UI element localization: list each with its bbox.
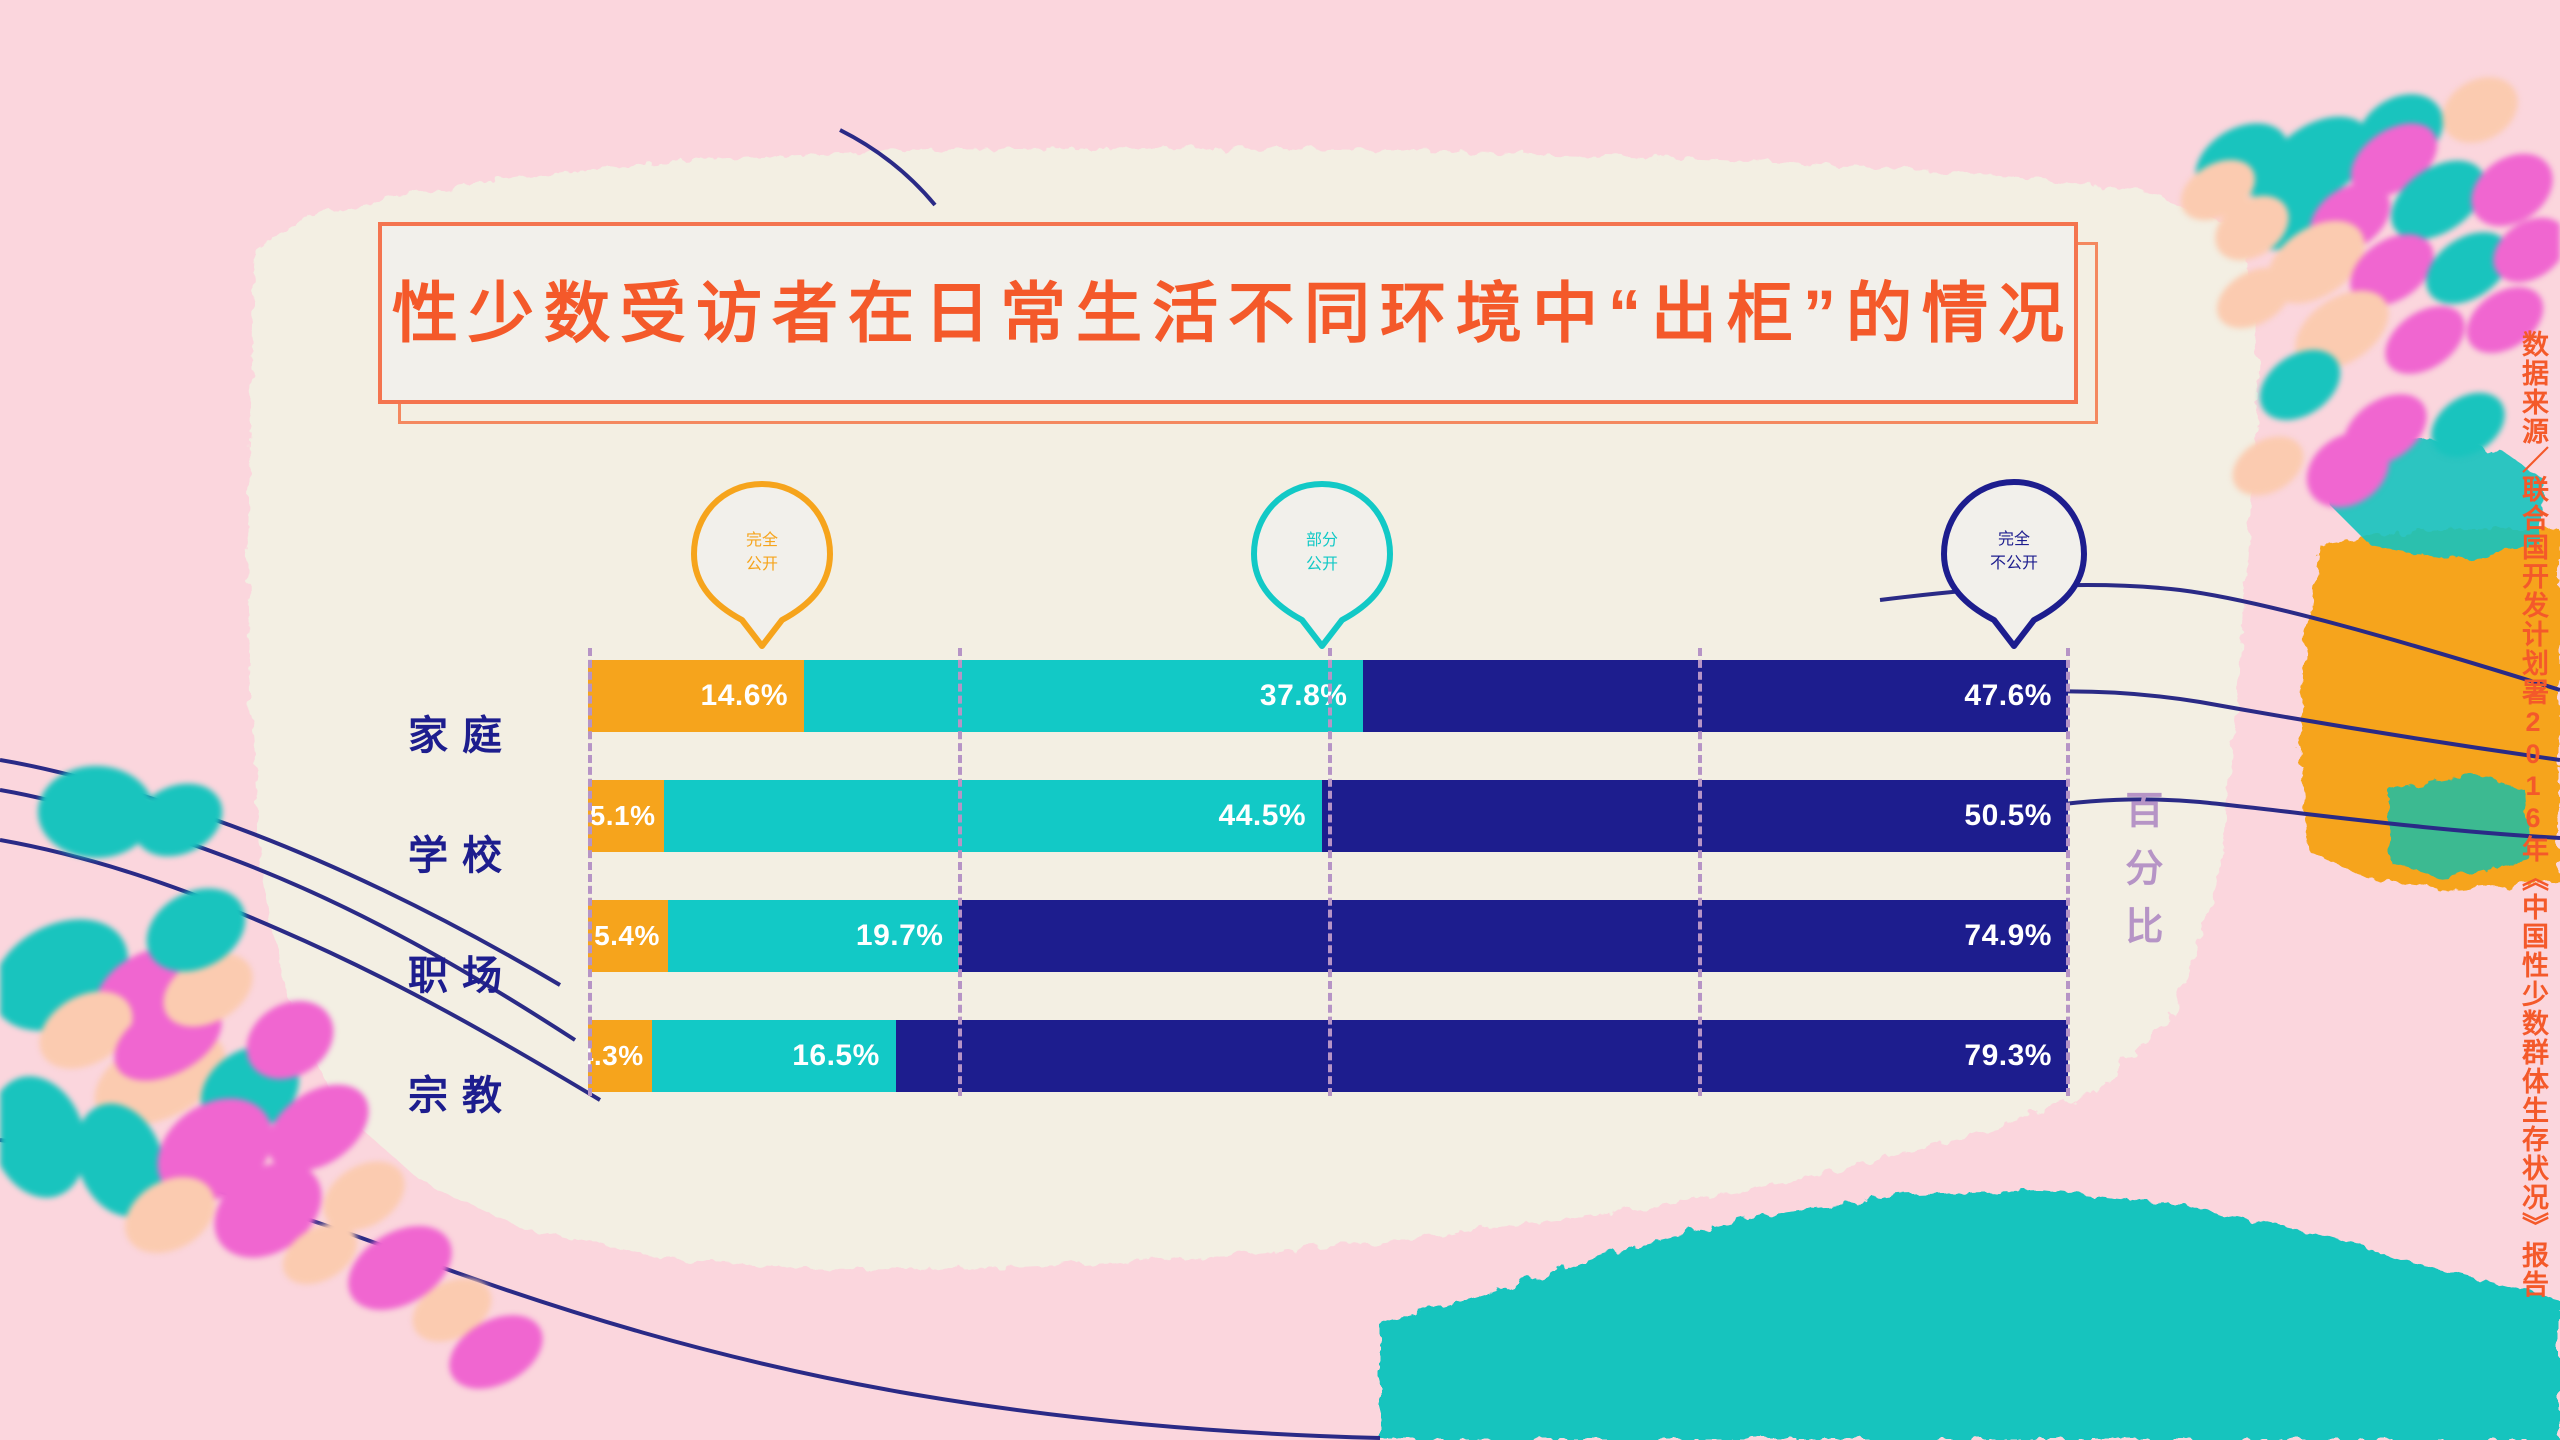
row-label-family: 家庭: [408, 703, 516, 761]
bar-segment-partly-open[interactable]: 37.8%: [804, 660, 1363, 732]
page-title: 性少数受访者在日常生活不同环境中“出柜”的情况: [382, 280, 2074, 346]
legend-label-line2: 公开: [1306, 550, 1338, 574]
source-note: 数据来源／联合国开发计划署2016年《中国性少数群体生存状况》报告: [2504, 330, 2548, 1299]
legend-label-line2: 不公开: [1990, 549, 2038, 573]
infographic-canvas: 性少数受访者在日常生活不同环境中“出柜”的情况 完全 公开 部分 公开 完全 不…: [0, 0, 2560, 1440]
legend-label-line2: 公开: [746, 550, 778, 574]
bar-segment-not-open[interactable]: 50.5%: [1322, 780, 2068, 852]
bar-row-workplace[interactable]: 5.4% 19.7% 74.9%: [588, 900, 2068, 972]
bar-segment-partly-open[interactable]: 19.7%: [668, 900, 960, 972]
bar-segment-not-open[interactable]: 47.6%: [1363, 660, 2068, 732]
bar-value-label: 47.6%: [1964, 679, 2068, 713]
bar-value-label: 16.5%: [792, 1039, 896, 1073]
bar-value-label: 79.3%: [1964, 1039, 2068, 1073]
bar-value-label: 74.9%: [1964, 919, 2068, 953]
bar-value-label: 44.5%: [1219, 799, 1323, 833]
legend-pin-fully-open[interactable]: 完全 公开: [688, 480, 836, 650]
legend-label-line1: 部分: [1306, 526, 1338, 550]
bar-row-religion[interactable]: 4.3% 16.5% 79.3%: [588, 1020, 2068, 1092]
bar-value-label: 50.5%: [1964, 799, 2068, 833]
row-label-religion: 宗教: [408, 1063, 516, 1121]
bar-value-label: 5.4%: [594, 920, 668, 952]
bar-segment-fully-open[interactable]: 14.6%: [588, 660, 804, 732]
legend-pin-partly-open[interactable]: 部分 公开: [1248, 480, 1396, 650]
legend-label-line1: 完全: [1998, 525, 2030, 549]
bar-value-label: 14.6%: [701, 679, 805, 713]
bar-segment-not-open[interactable]: 79.3%: [896, 1020, 2068, 1092]
bar-value-label: 37.8%: [1260, 679, 1364, 713]
bar-value-label: 4.3%: [588, 1040, 652, 1072]
bar-segment-fully-open[interactable]: 5.1%: [588, 780, 664, 852]
row-label-workplace: 职场: [408, 943, 516, 1001]
bar-row-school[interactable]: 5.1% 44.5% 50.5%: [588, 780, 2068, 852]
legend-label-line1: 完全: [746, 526, 778, 550]
axis-unit-text: 百分比: [2110, 790, 2169, 964]
bar-value-label: 5.1%: [590, 800, 664, 832]
bar-segment-partly-open[interactable]: 44.5%: [664, 780, 1323, 852]
bar-row-family[interactable]: 14.6% 37.8% 47.6%: [588, 660, 2068, 732]
bar-segment-fully-open[interactable]: 5.4%: [588, 900, 668, 972]
legend-pin-not-open[interactable]: 完全 不公开: [1938, 478, 2090, 650]
row-label-school: 学校: [408, 823, 516, 881]
bar-segment-partly-open[interactable]: 16.5%: [652, 1020, 896, 1092]
stacked-bar-chart: 家庭 14.6% 37.8% 47.6% 学校 5.1% 44.5% 50.5%: [0, 0, 2560, 1440]
bar-segment-not-open[interactable]: 74.9%: [959, 900, 2068, 972]
page-title-panel: 性少数受访者在日常生活不同环境中“出柜”的情况: [378, 222, 2078, 404]
bar-segment-fully-open[interactable]: 4.3%: [588, 1020, 652, 1092]
axis-unit-label: 百分比: [2110, 790, 2170, 964]
bar-value-label: 19.7%: [856, 919, 960, 953]
